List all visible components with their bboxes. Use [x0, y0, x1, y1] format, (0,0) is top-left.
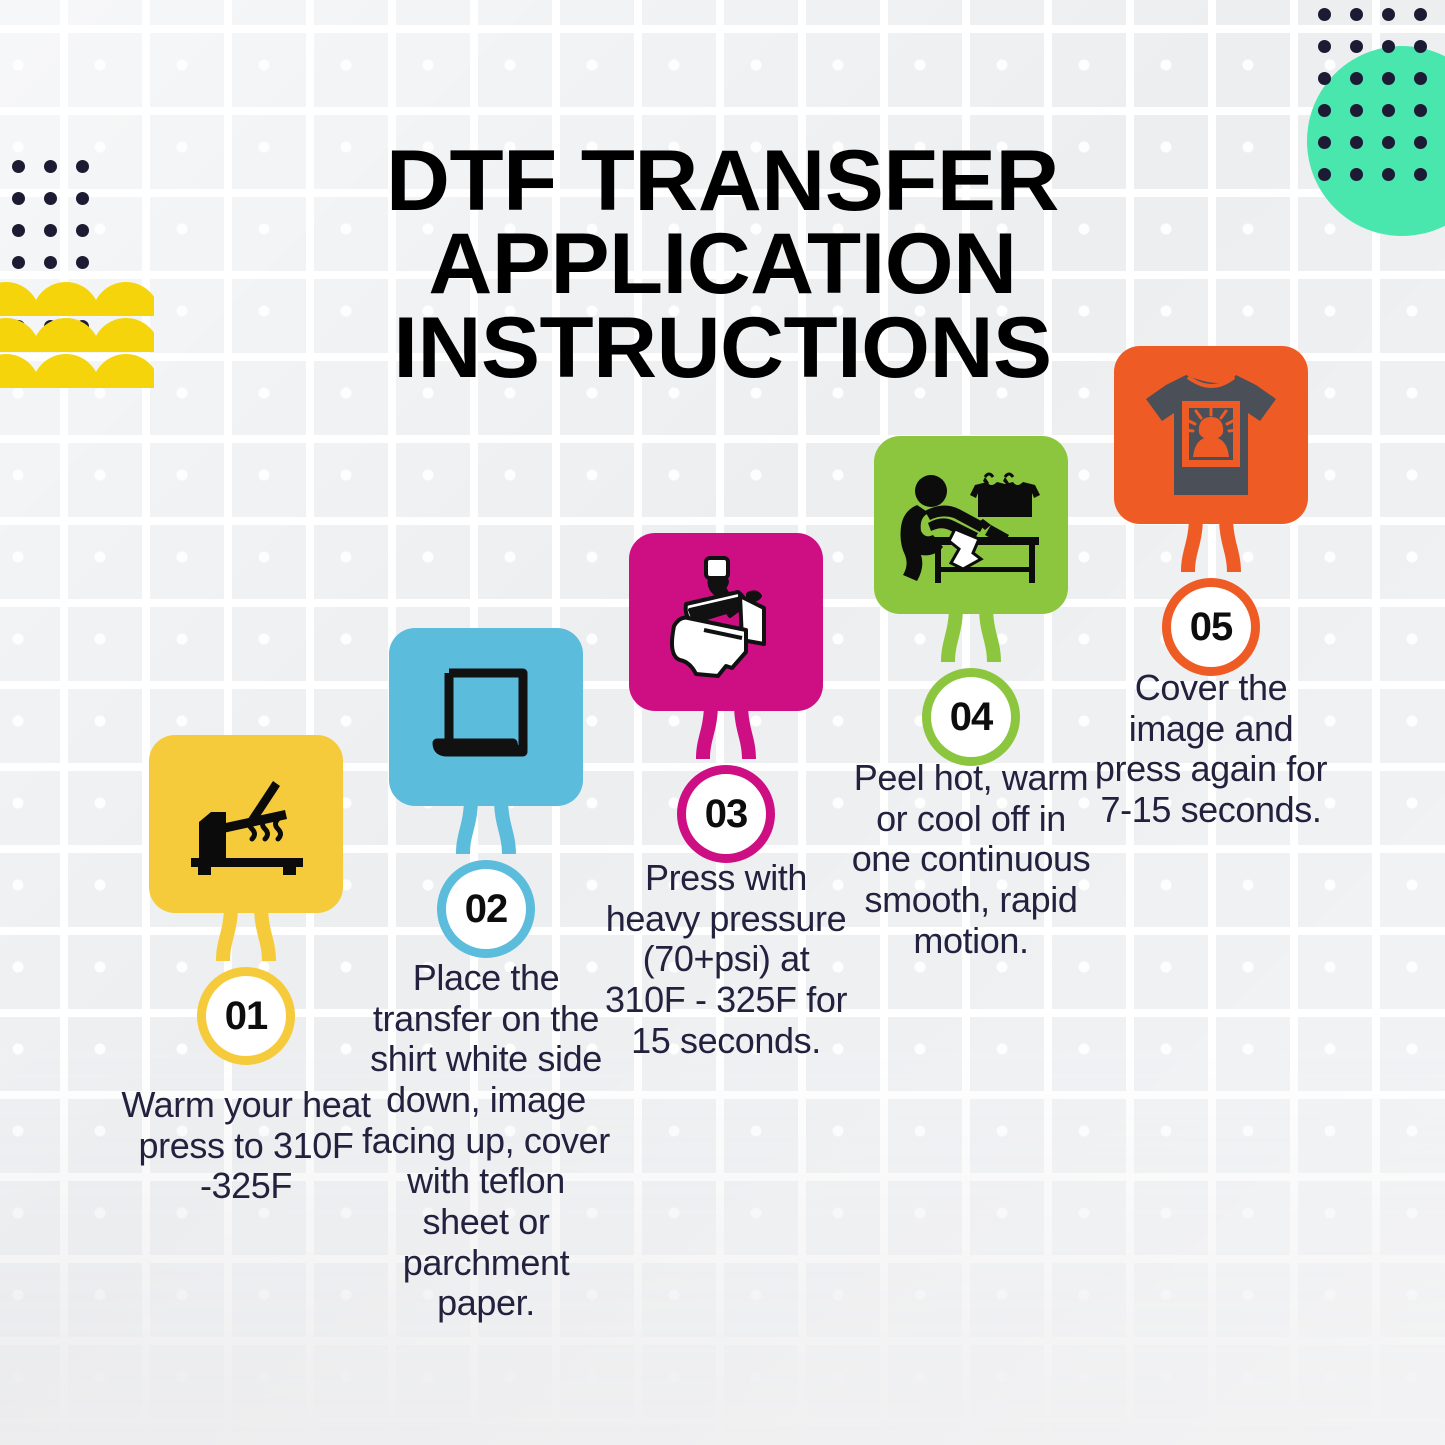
step-01-number-badge: 01	[197, 967, 295, 1065]
heat-press-open-icon	[181, 770, 311, 878]
step-02-icon-card	[389, 628, 583, 806]
step-02-number: 02	[465, 889, 508, 929]
heat-press-machine-icon	[660, 552, 792, 692]
step-04-number: 04	[950, 697, 993, 737]
step-04-icon-card	[874, 436, 1068, 614]
step-02-number-badge: 02	[437, 860, 535, 958]
step-02-caption: Place the transfer on the shirt white si…	[360, 958, 612, 1324]
step-03-icon-card	[629, 533, 823, 711]
step-01-caption: Warm your heat press to 310F -325F	[120, 1085, 372, 1207]
peel-transfer-person-icon	[895, 463, 1047, 587]
step-05-icon-card	[1114, 346, 1308, 524]
step-05-caption: Cover the image and press again for 7-15…	[1085, 668, 1337, 831]
step-03-number: 03	[705, 794, 748, 834]
step-04-number-badge: 04	[922, 668, 1020, 766]
step-04-caption: Peel hot, warm or cool off in one contin…	[845, 758, 1097, 961]
step-01-number: 01	[225, 996, 268, 1036]
step-03-caption: Press with heavy pressure (70+psi) at 31…	[600, 858, 852, 1061]
step-03-number-badge: 03	[677, 765, 775, 863]
step-05-number: 05	[1190, 607, 1233, 647]
steps-container: 01 Warm your heat press to 310F -325F	[0, 0, 1445, 1445]
step-05-number-badge: 05	[1162, 578, 1260, 676]
step-01-icon-card	[149, 735, 343, 913]
printed-tshirt-icon	[1138, 367, 1284, 503]
transfer-sheet-icon	[431, 663, 541, 771]
